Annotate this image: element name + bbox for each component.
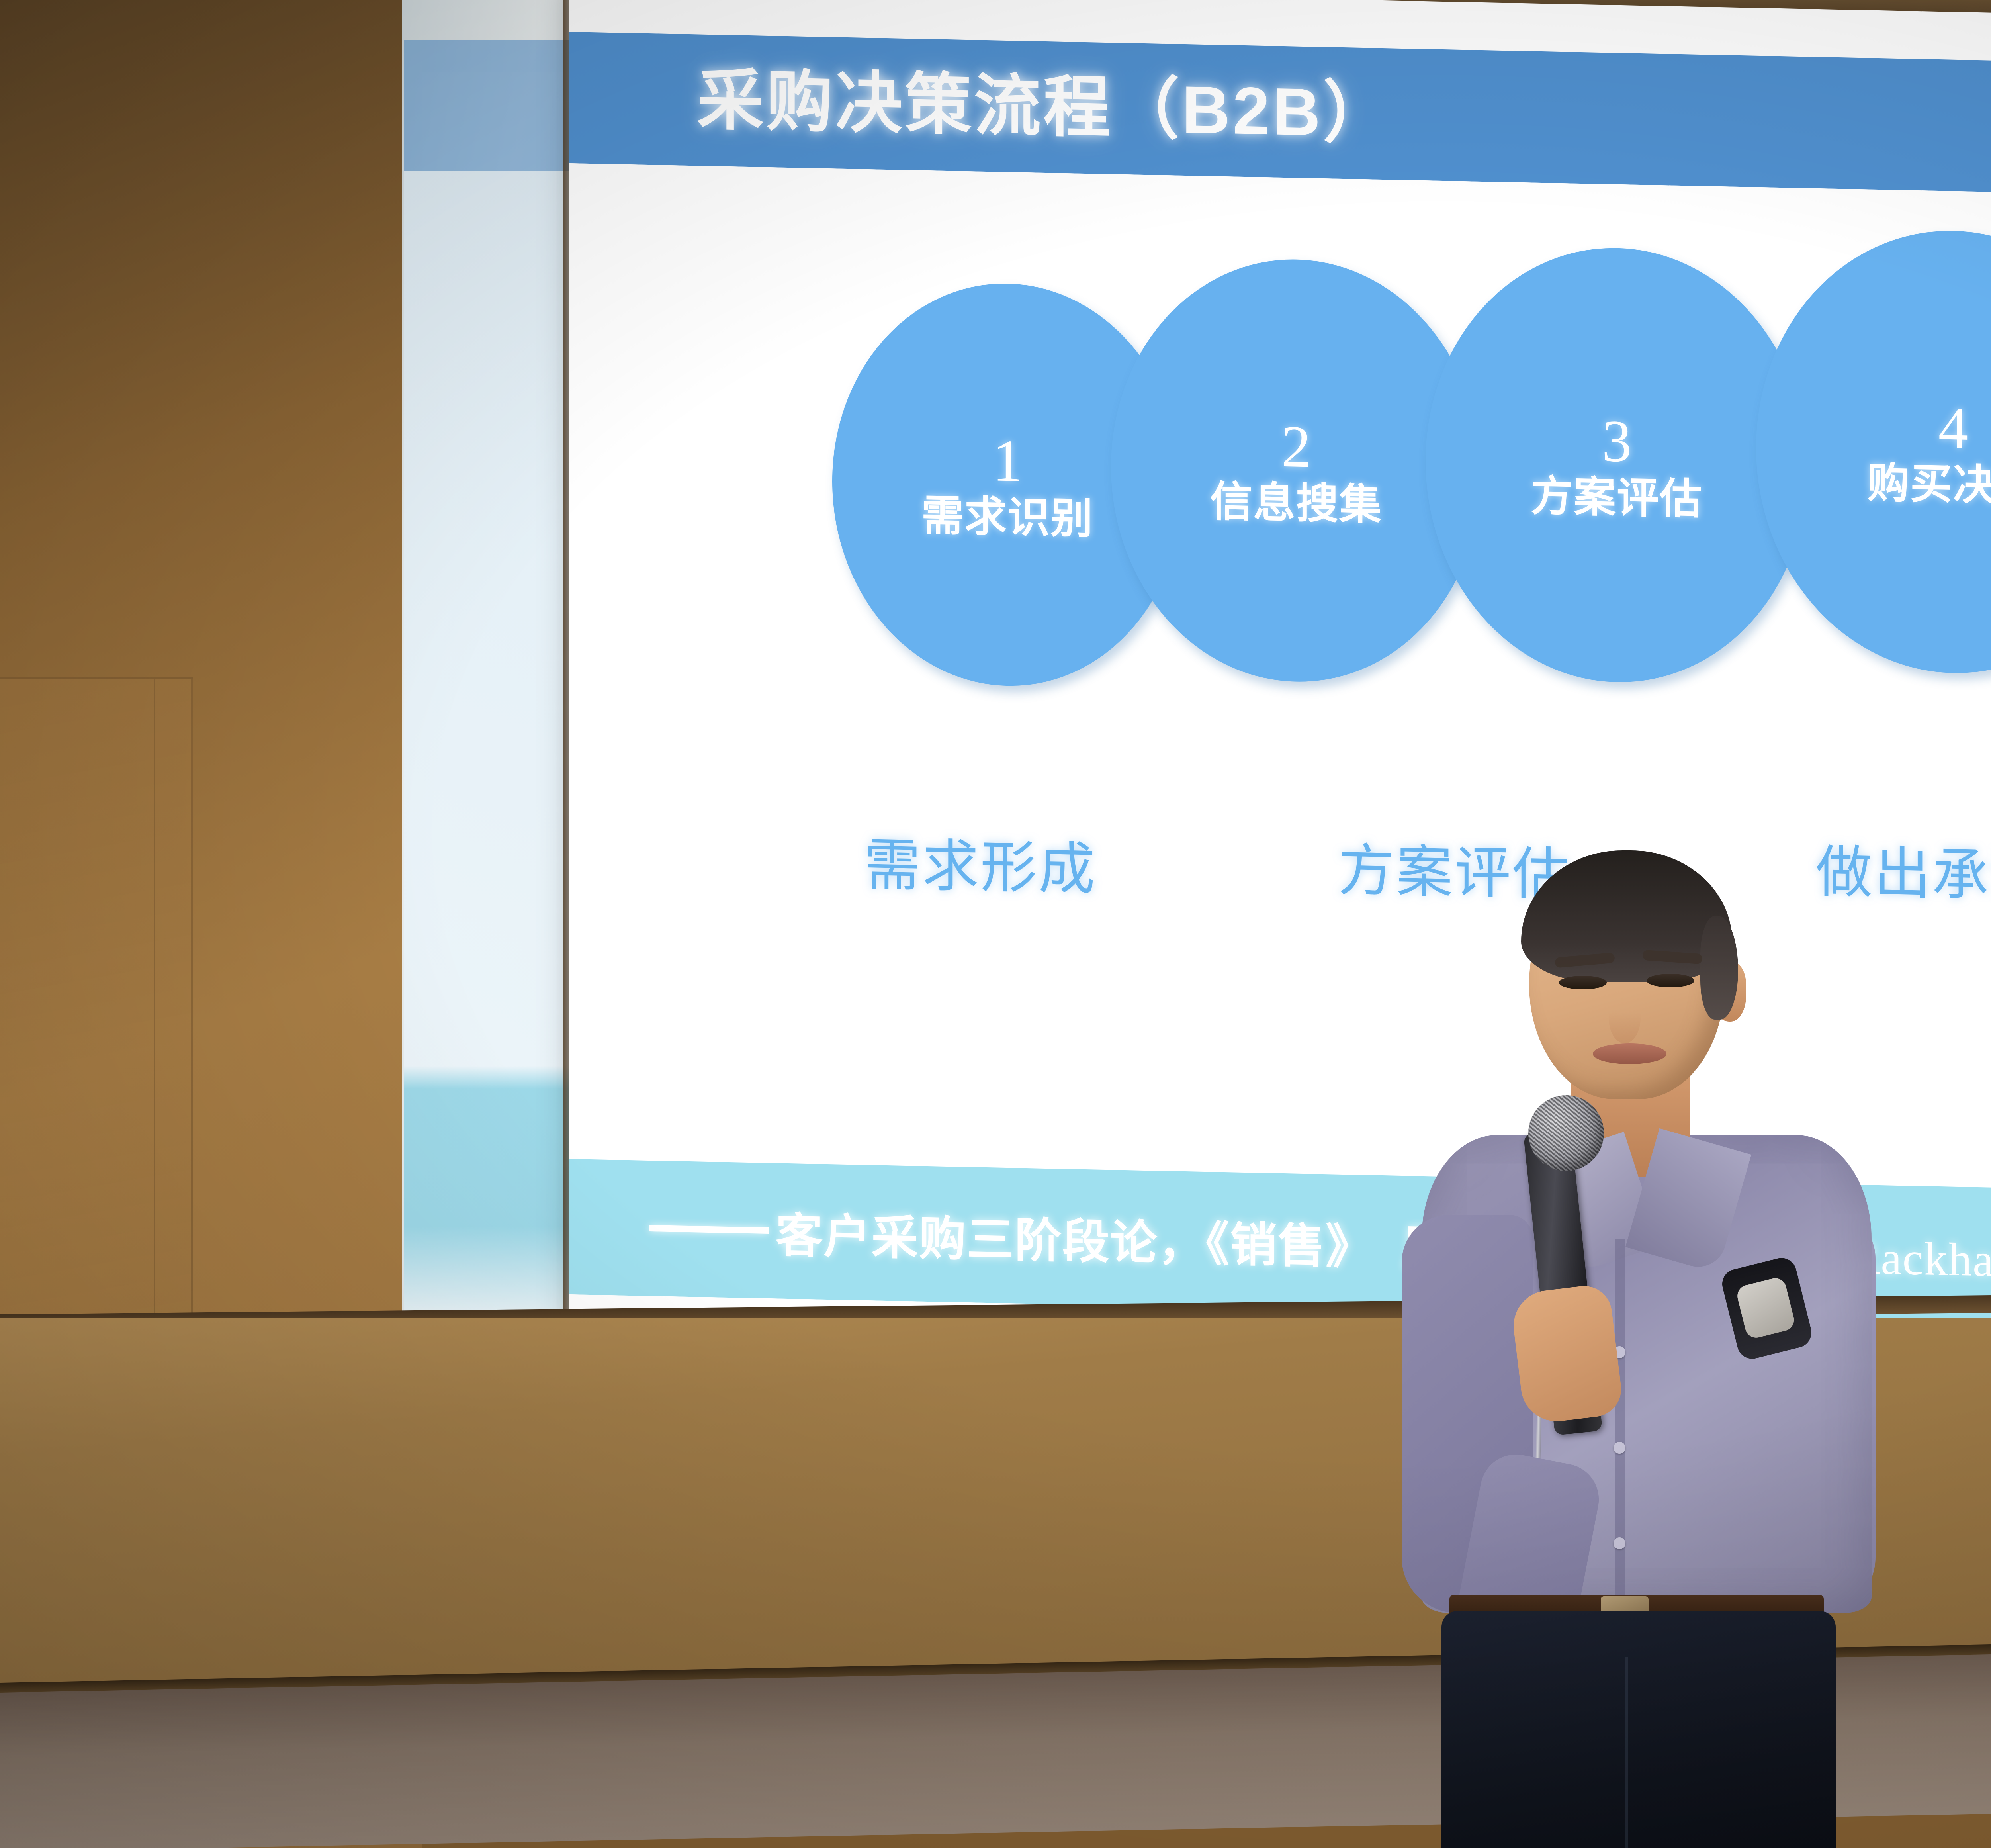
speaker-eye-left xyxy=(1559,976,1607,989)
slide-title: 采购决策流程（B2B） xyxy=(697,45,1392,156)
step-number-3: 3 xyxy=(1602,411,1632,472)
speaker-nose xyxy=(1609,992,1641,1043)
step-label-1: 需求识别 xyxy=(921,495,1093,540)
step-label-3: 方案评估 xyxy=(1531,475,1703,521)
step-circle-4: 4 购买决策 xyxy=(1756,227,1991,677)
presentation-photo-scene: 采购决策流程（B2B） 1 需求识别 2 信息搜集 3 方案评估 4 购买决策 xyxy=(0,0,1991,1848)
speaker-hair-side xyxy=(1700,916,1738,1020)
speaker-shirt-placket xyxy=(1615,1239,1625,1605)
speaker-mouth xyxy=(1593,1043,1666,1064)
footer-source-cn: 客户采购三阶段论，《销售》 xyxy=(776,1209,1373,1274)
shirt-button-3 xyxy=(1614,1537,1625,1549)
step-number-2: 2 xyxy=(1281,417,1311,477)
speaker-figure xyxy=(1386,856,1943,1848)
speaker-eye-right xyxy=(1647,974,1694,987)
shirt-button-2 xyxy=(1614,1442,1625,1454)
speaker-hand-holding-mic xyxy=(1510,1283,1624,1425)
step-label-2: 信息搜集 xyxy=(1210,480,1382,526)
footer-dash-rule xyxy=(649,1225,769,1234)
process-step-circles: 1 需求识别 2 信息搜集 3 方案评估 4 购买决策 5 购后评价 xyxy=(832,228,1991,734)
watch-face xyxy=(1735,1276,1796,1340)
trouser-seam xyxy=(1625,1657,1628,1848)
step-label-4: 购买决策 xyxy=(1867,462,1991,507)
step-number-4: 4 xyxy=(1938,398,1968,458)
projector-spill-title xyxy=(404,40,571,171)
speaker-trousers xyxy=(1441,1611,1836,1848)
step-number-1: 1 xyxy=(993,431,1023,491)
projector-spill-body xyxy=(404,171,571,1318)
phase-label-1: 需求形成 xyxy=(864,818,1097,905)
step-circle-3: 3 方案评估 xyxy=(1426,244,1808,686)
